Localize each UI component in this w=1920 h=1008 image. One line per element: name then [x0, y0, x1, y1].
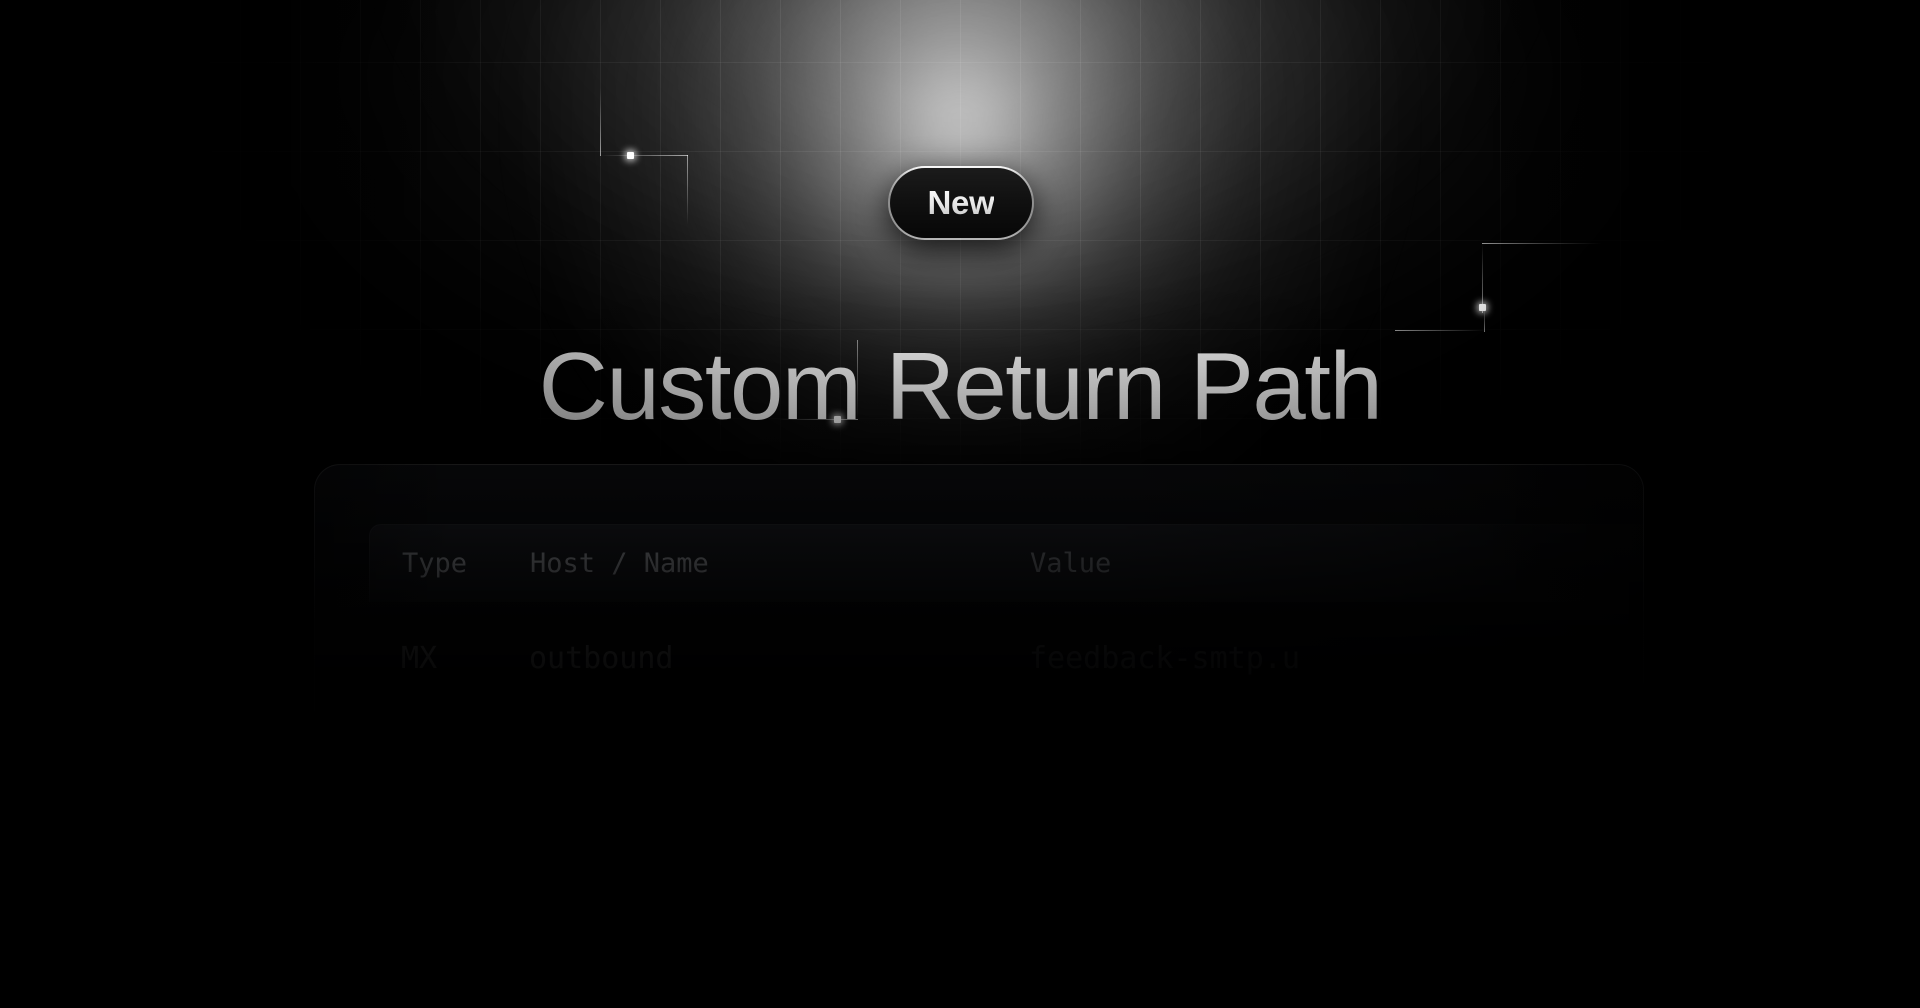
record-value: v=spf1 include: [1029, 754, 1300, 789]
table-row[interactable]: TXT resend._domainkey p=MIGfMA0GCSqG [369, 828, 1644, 941]
new-badge-inner: New [890, 168, 1032, 238]
table-header-cell-value: Value [1030, 548, 1644, 579]
trace-segment-vertical [1482, 243, 1483, 313]
table-row[interactable]: TXT outbound v=spf1 include: [369, 715, 1644, 828]
cell-host: resend._domainkey [529, 867, 1029, 902]
new-badge: New [888, 166, 1034, 240]
cell-type: TXT [369, 867, 529, 902]
page-title: Custom Return Path [0, 334, 1920, 440]
record-value: p=MIGfMA0GCSqG [1029, 867, 1282, 902]
trace-segment-vertical [600, 88, 601, 156]
device-frame: Type Host / Name Value MX outbound [314, 464, 1644, 1008]
record-type: TXT [401, 867, 455, 902]
dns-records-table: Type Host / Name Value MX outbound [369, 524, 1644, 941]
cell-host: outbound [529, 641, 1029, 676]
trace-segment-vertical [1484, 308, 1485, 332]
trace-segment-horizontal [1395, 330, 1485, 331]
cell-value: p=MIGfMA0GCSqG [1029, 867, 1644, 902]
table-row[interactable]: MX outbound feedback-smtp.u [369, 602, 1644, 715]
cell-type: TXT [369, 754, 529, 789]
table-header-cell-type: Type [370, 548, 530, 579]
new-badge-label: New [928, 184, 995, 222]
column-label-host: Host / Name [530, 548, 709, 579]
table-header-cell-host: Host / Name [530, 548, 1030, 579]
device-screen: Type Host / Name Value MX outbound [315, 465, 1644, 1008]
cell-value: feedback-smtp.u [1029, 641, 1644, 676]
record-host: resend._domainkey [529, 867, 836, 902]
table-header-row: Type Host / Name Value [369, 524, 1644, 602]
record-host: outbound [529, 754, 674, 789]
hero-canvas: New Custom Return Path Type Host / Name … [0, 0, 1920, 1008]
record-host: outbound [529, 641, 674, 676]
trace-segment-horizontal [1482, 243, 1602, 244]
background-grid [0, 0, 1920, 520]
column-label-type: Type [402, 548, 467, 579]
record-type: MX [401, 641, 437, 676]
record-type: TXT [401, 754, 455, 789]
trace-node-icon [627, 152, 634, 159]
column-label-value: Value [1030, 548, 1111, 579]
trace-segment-horizontal [600, 155, 688, 156]
trace-node-icon [1479, 304, 1486, 311]
cell-value: v=spf1 include: [1029, 754, 1644, 789]
trace-segment-vertical [687, 155, 688, 225]
record-value: feedback-smtp.u [1029, 641, 1300, 676]
cell-type: MX [369, 641, 529, 676]
cell-host: outbound [529, 754, 1029, 789]
